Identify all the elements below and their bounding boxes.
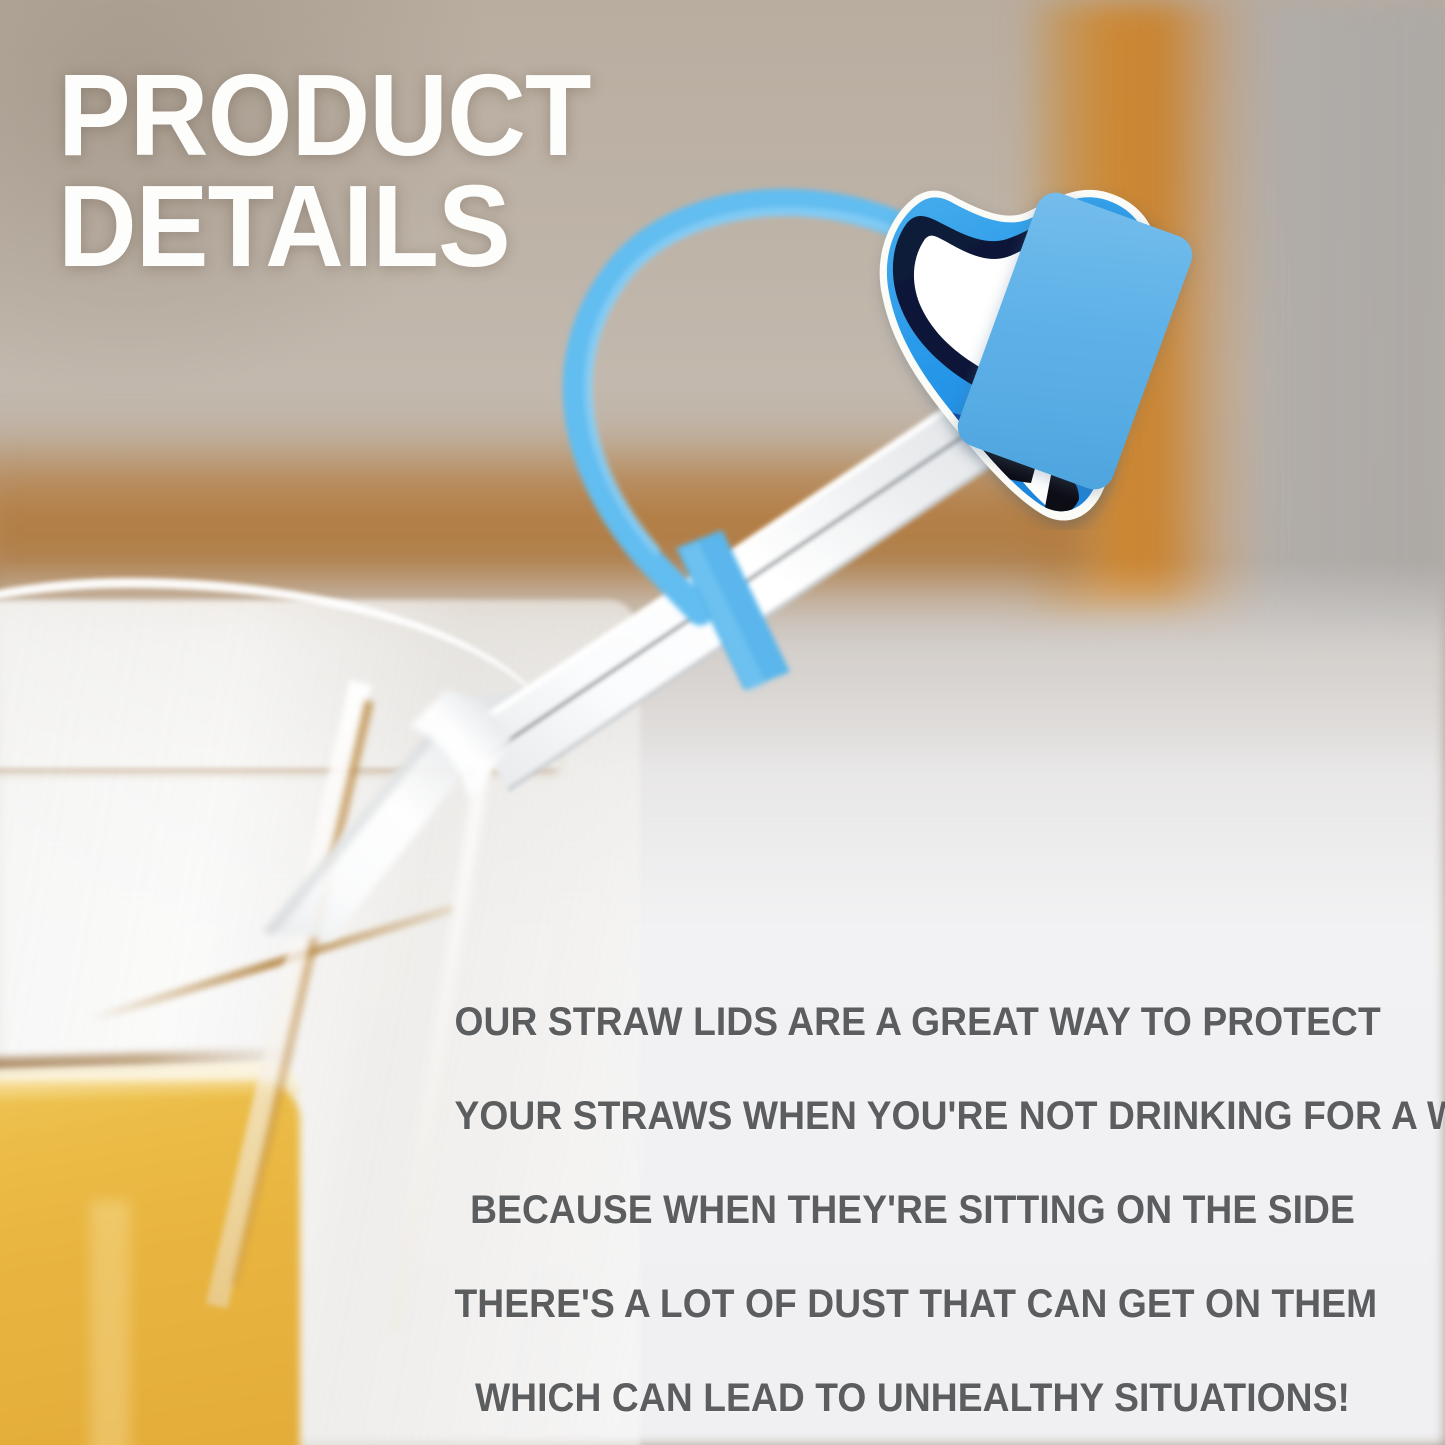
body-copy-line: BECAUSE WHEN THEY'RE SITTING ON THE SIDE bbox=[454, 1163, 1370, 1257]
body-copy-line: THERE'S A LOT OF DUST THAT CAN GET ON TH… bbox=[454, 1257, 1370, 1351]
product-details-infographic: PRODUCT DETAILS OUR STRAW LIDS ARE A GRE… bbox=[0, 0, 1445, 1445]
body-copy-line: OUR STRAW LIDS ARE A GREAT WAY TO PROTEC… bbox=[454, 975, 1370, 1069]
body-copy-block: OUR STRAW LIDS ARE A GREAT WAY TO PROTEC… bbox=[454, 975, 1370, 1445]
juice-highlight-streak bbox=[90, 1200, 130, 1445]
page-title: PRODUCT DETAILS bbox=[58, 60, 591, 283]
body-copy-line: YOUR STRAWS WHEN YOU'RE NOT DRINKING FOR… bbox=[454, 1069, 1370, 1163]
body-copy-line: WHICH CAN LEAD TO UNHEALTHY SITUATIONS! bbox=[454, 1351, 1370, 1445]
tooth-straw-topper-charm bbox=[845, 175, 1265, 530]
